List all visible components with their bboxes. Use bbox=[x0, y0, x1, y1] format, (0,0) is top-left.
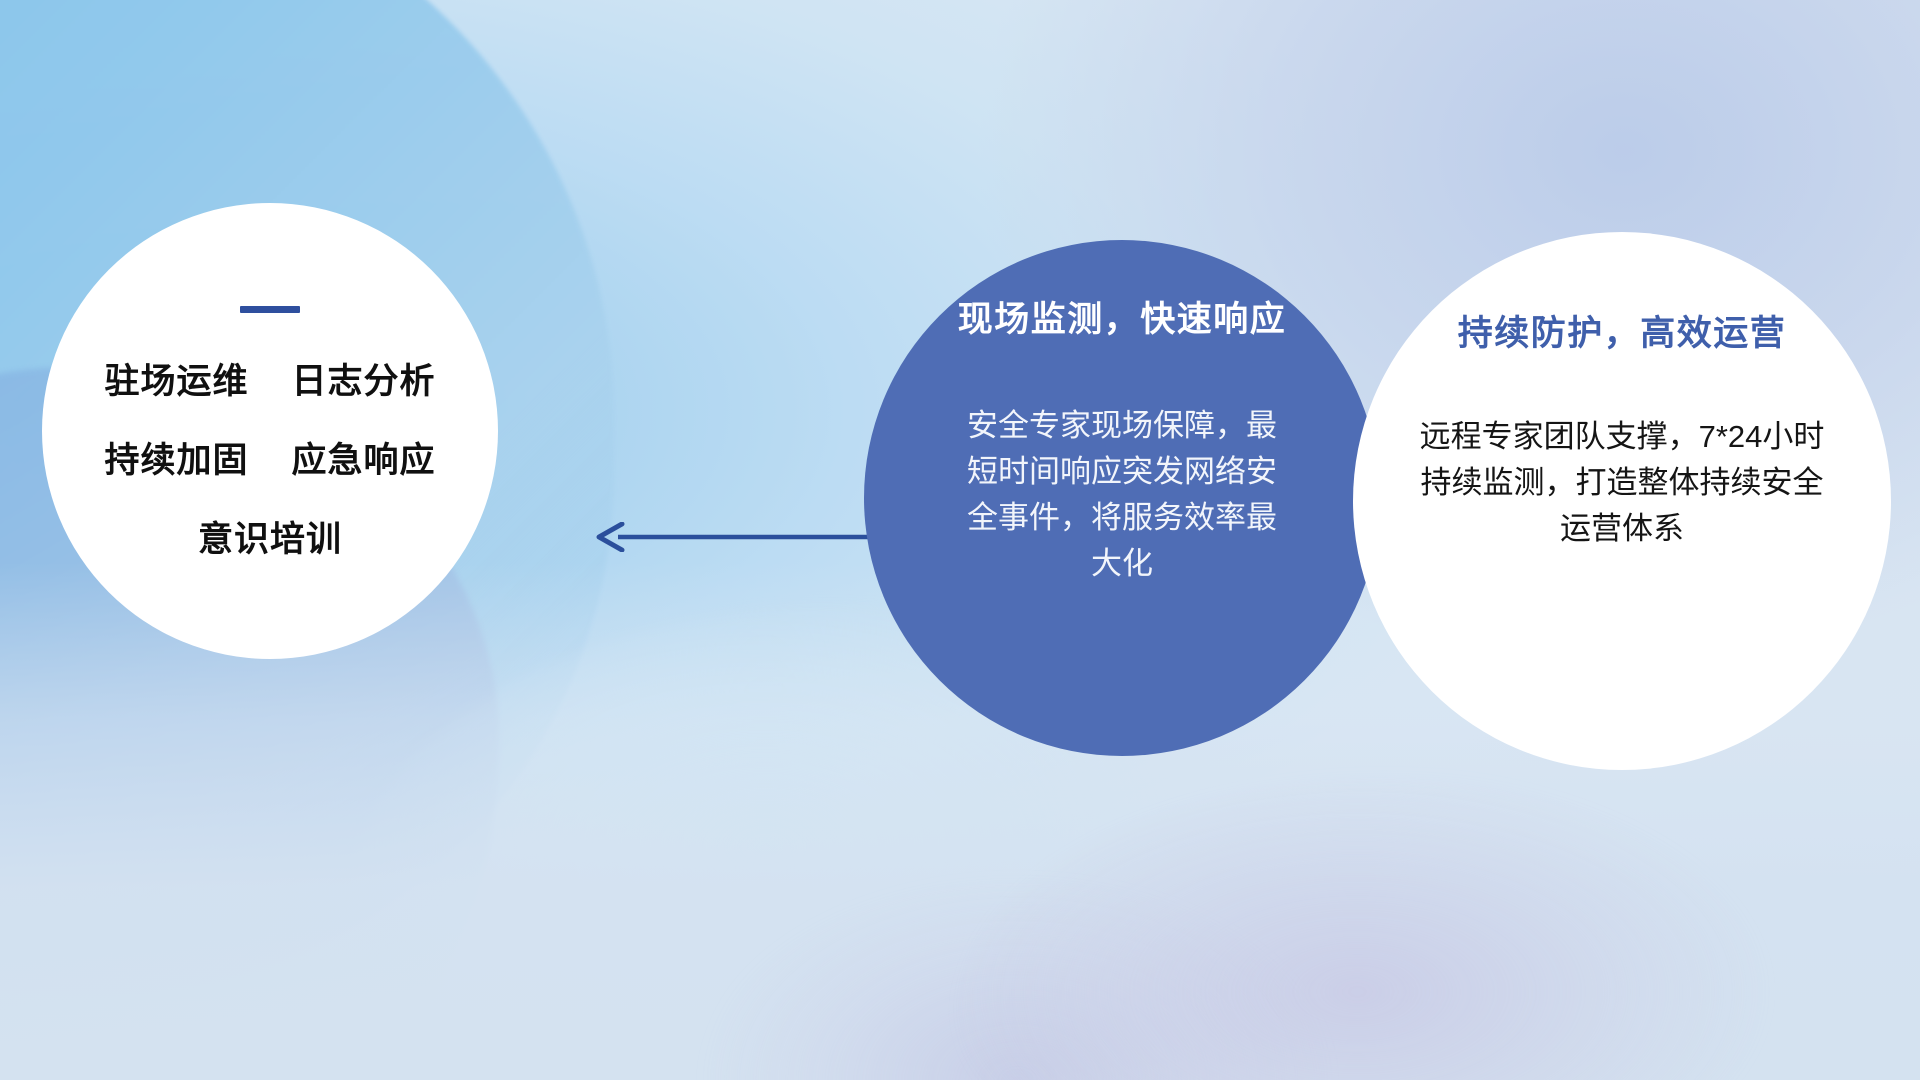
capability-tag-row: 持续加固 应急响应 bbox=[105, 443, 436, 478]
onsite-monitoring-circle[interactable]: 现场监测，快速响应 安全专家现场保障，最短时间响应突发网络安全事件，将服务效率最… bbox=[864, 240, 1380, 756]
capabilities-circle[interactable]: 驻场运维 日志分析 持续加固 应急响应 意识培训 bbox=[42, 203, 498, 659]
slide-canvas: 驻场运维 日志分析 持续加固 应急响应 意识培训 现场监测，快速响应 安全专家现… bbox=[0, 0, 1920, 1080]
continuous-protection-circle[interactable]: 持续防护，高效运营 远程专家团队支撑，7*24小时持续监测，打造整体持续安全运营… bbox=[1353, 232, 1891, 770]
continuous-protection-body: 远程专家团队支撑，7*24小时持续监测，打造整体持续安全运营体系 bbox=[1412, 414, 1832, 552]
horizontal-dash-icon bbox=[240, 306, 300, 313]
continuous-protection-title: 持续防护，高效运营 bbox=[1458, 314, 1787, 354]
onsite-monitoring-title: 现场监测，快速响应 bbox=[958, 300, 1287, 340]
onsite-monitoring-body: 安全专家现场保障，最短时间响应突发网络安全事件，将服务效率最大化 bbox=[966, 403, 1278, 587]
arrow-left-icon bbox=[596, 522, 896, 552]
capability-tag-row: 驻场运维 日志分析 bbox=[105, 364, 436, 399]
capability-tag-row: 意识培训 bbox=[198, 522, 342, 557]
